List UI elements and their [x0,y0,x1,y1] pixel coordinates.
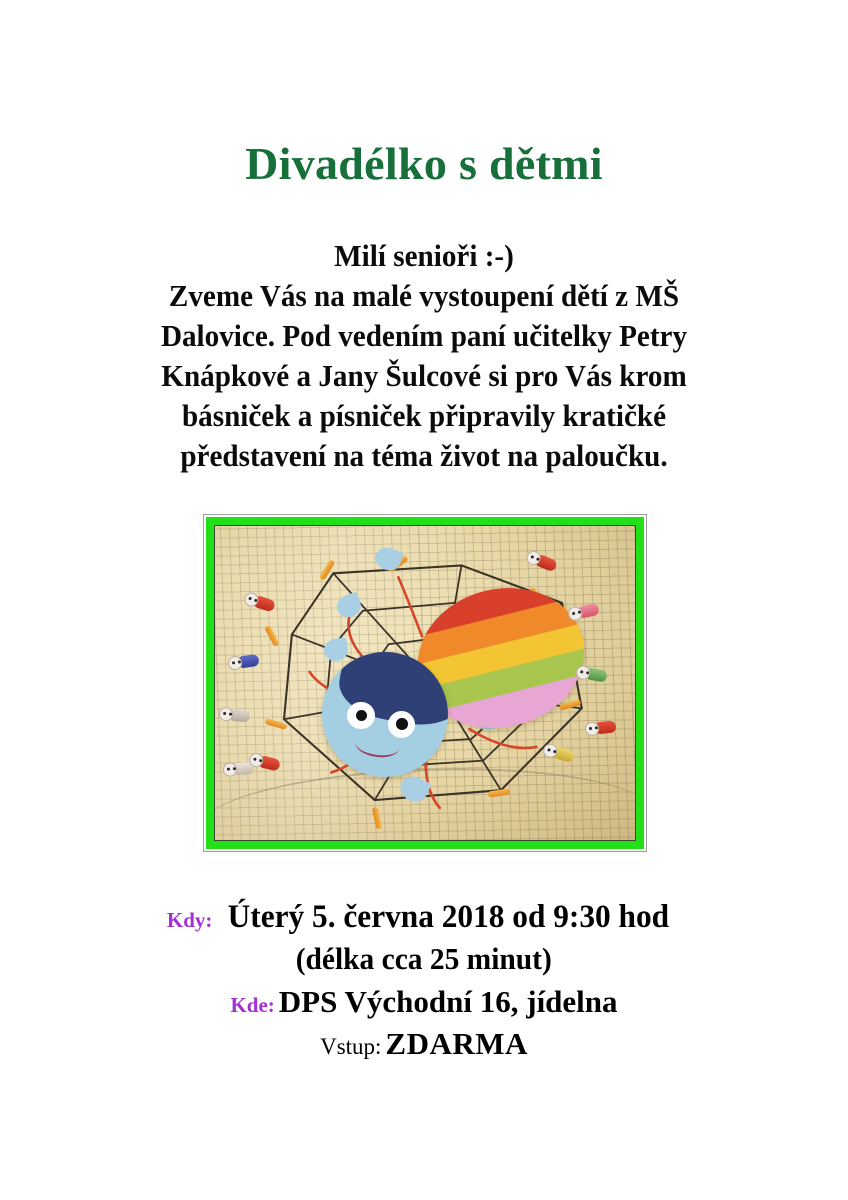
event-price-line: Vstup: ZDARMA [0,1026,848,1063]
spider-eye-left [347,702,375,730]
invitation-line-3: Dalovice. Pod vedením paní učitelky Petr… [82,316,766,356]
ladybug-figure [584,719,615,736]
where-value: DPS Východní 16, jídelna [279,984,618,1019]
price-value: ZDARMA [385,1026,528,1061]
when-value: Úterý 5. června 2018 od 9:30 hod [228,898,669,937]
event-details: Kdy: Úterý 5. června 2018 od 9:30 hod (d… [0,898,848,1063]
invitation-line-4: Knápkové a Jany Šulcové si pro Vás krom [82,356,766,396]
spider-mouth [353,729,401,760]
event-where-line: Kde: DPS Východní 16, jídelna [0,984,848,1021]
when-label: Kdy: [167,908,213,932]
invitation-text: Milí senioři :-) Zveme Vás na malé vysto… [82,236,766,476]
invitation-line-2: Zveme Vás na malé vystoupení dětí z MŠ [82,276,766,316]
where-label: Kde: [230,993,274,1017]
duration-value: (délka cca 25 minut) [296,941,552,978]
invitation-line-5: básniček a písniček připravily kratičké [82,396,766,436]
event-duration-line: (délka cca 25 minut) [0,941,848,978]
event-when-line: Kdy: Úterý 5. června 2018 od 9:30 hod [0,898,848,937]
invitation-line-1: Milí senioři :-) [82,236,766,276]
price-label: Vstup: [320,1034,381,1059]
photo-spider-web [214,525,636,841]
invitation-line-6: představení na téma život na paloučku. [82,436,766,476]
page-title: Divadélko s dětmi [0,140,848,188]
photo-green-border [206,517,644,849]
photo-frame [203,514,647,852]
poster-page: Divadélko s dětmi Milí senioři :-) Zveme… [0,0,848,1200]
spider-head [322,652,448,778]
